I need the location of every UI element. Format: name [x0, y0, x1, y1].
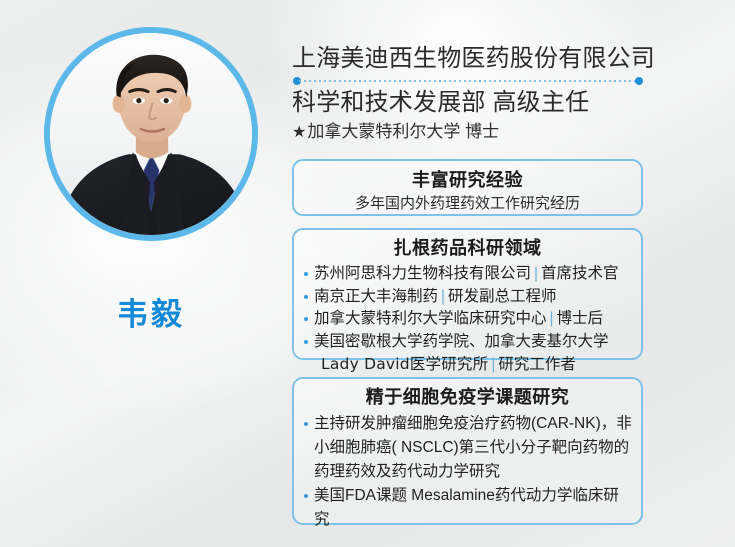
card-experience-subtitle: 多年国内外药理药效工作研究经历 [304, 193, 631, 215]
portrait-photo [50, 33, 252, 235]
item-org: 美国密歇根大学药学院、加拿大麦基尔大学 [314, 333, 609, 350]
organization-name: 上海美迪西生物医药股份有限公司 [292, 44, 692, 74]
item-org: 苏州阿思科力生物科技有限公司 [314, 265, 531, 282]
list-item: 美国密歇根大学药学院、加拿大麦基尔大学Lady David医学研究所|研究工作者 [302, 331, 633, 377]
item-institute: Lady David医学研究所 [321, 355, 488, 373]
card-immunology: 精于细胞免疫学课题研究 主持研发肿瘤细胞免疫治疗药物(CAR-NK)，非小细胞肺… [292, 377, 643, 525]
list-item: 南京正大丰海制药|研发副总工程师 [302, 286, 633, 309]
star-icon: ★ [292, 124, 306, 141]
list-item: 加拿大蒙特利尔大学临床研究中心|博士后 [302, 308, 633, 331]
item-separator: | [438, 288, 448, 305]
education-credential: ★加拿大蒙特利尔大学 博士 [292, 120, 692, 145]
item-role: 研究工作者 [498, 356, 576, 373]
research-field-list: 苏州阿思科力生物科技有限公司|首席技术官 南京正大丰海制药|研发副总工程师 加拿… [302, 263, 633, 377]
info-column: 上海美迪西生物医药股份有限公司 科学和技术发展部 高级主任 ★加拿大蒙特利尔大学… [292, 0, 652, 547]
person-name: 韦毅 [44, 296, 258, 334]
job-title: 科学和技术发展部 高级主任 [292, 88, 692, 118]
divider-line [299, 80, 637, 82]
education-credential-text: 加拿大蒙特利尔大学 博士 [307, 122, 499, 141]
item-role: 研发副总工程师 [448, 288, 557, 305]
item-continuation: Lady David医学研究所|研究工作者 [314, 353, 633, 377]
item-separator: | [531, 265, 541, 282]
avatar-ring [44, 27, 258, 241]
divider-dot-right [635, 77, 643, 85]
item-role: 博士后 [557, 310, 604, 327]
card-experience-title: 丰富研究经验 [304, 168, 631, 192]
item-role: 首席技术官 [541, 265, 619, 282]
slide-canvas: 韦毅 上海美迪西生物医药股份有限公司 科学和技术发展部 高级主任 ★加拿大蒙特利… [0, 0, 735, 547]
list-item: 主持研发肿瘤细胞免疫治疗药物(CAR-NK)，非小细胞肺癌( NSCLC)第三代… [302, 412, 633, 484]
item-org: 南京正大丰海制药 [314, 288, 438, 305]
item-org: 加拿大蒙特利尔大学临床研究中心 [314, 310, 547, 327]
dotted-divider [293, 77, 643, 85]
card-research-field: 扎根药品科研领域 苏州阿思科力生物科技有限公司|首席技术官 南京正大丰海制药|研… [292, 228, 643, 360]
list-item: 苏州阿思科力生物科技有限公司|首席技术官 [302, 263, 633, 286]
card-experience: 丰富研究经验 多年国内外药理药效工作研究经历 [292, 159, 643, 216]
card-research-field-title: 扎根药品科研领域 [302, 236, 633, 260]
immunology-list: 主持研发肿瘤细胞免疫治疗药物(CAR-NK)，非小细胞肺癌( NSCLC)第三代… [302, 412, 633, 532]
item-separator: | [488, 356, 498, 373]
item-separator: | [547, 310, 557, 327]
list-item: 美国FDA课题 Mesalamine药代动力学临床研究 [302, 484, 633, 532]
avatar [44, 27, 258, 241]
card-immunology-title: 精于细胞免疫学课题研究 [302, 385, 633, 409]
